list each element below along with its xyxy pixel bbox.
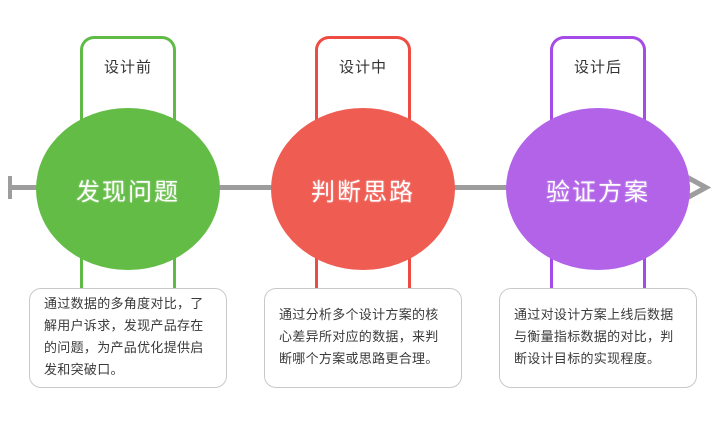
stage-3-bubble-label: 验证方案 (546, 172, 650, 207)
stage-1-caption-text: 通过数据的多角度对比，了解用户诉求，发现产品存在的问题，为产品优化提供启发和突破… (30, 294, 226, 382)
stage-2-caption-card: 通过分析多个设计方案的核心差异所对应的数据，来判断哪个方案或思路更合理。 (264, 288, 462, 388)
stage-2: 设计中 判断思路 通过分析多个设计方案的核心差异所对应的数据，来判断哪个方案或思… (242, 0, 482, 429)
stage-1-phase-label: 设计前 (80, 57, 176, 77)
stage-3: 设计后 验证方案 通过对设计方案上线后数据与衡量指标数据的对比，判断设计目标的实… (477, 0, 717, 429)
stage-3-caption-text: 通过对设计方案上线后数据与衡量指标数据的对比，判断设计目标的实现程度。 (500, 305, 696, 371)
stage-3-phase-label: 设计后 (550, 57, 646, 77)
stage-2-caption-text: 通过分析多个设计方案的核心差异所对应的数据，来判断哪个方案或思路更合理。 (265, 305, 461, 371)
process-flow-diagram: 设计前 发现问题 通过数据的多角度对比，了解用户诉求，发现产品存在的问题，为产品… (0, 0, 720, 429)
stage-3-caption-card: 通过对设计方案上线后数据与衡量指标数据的对比，判断设计目标的实现程度。 (499, 288, 697, 388)
stage-2-bubble: 判断思路 (271, 108, 455, 270)
stage-1-caption-card: 通过数据的多角度对比，了解用户诉求，发现产品存在的问题，为产品优化提供启发和突破… (29, 288, 227, 388)
stage-3-bubble: 验证方案 (506, 108, 690, 270)
stage-1-bubble: 发现问题 (36, 108, 220, 270)
stage-1-bubble-label: 发现问题 (76, 172, 180, 207)
stage-2-bubble-label: 判断思路 (311, 172, 415, 207)
stage-2-phase-label: 设计中 (315, 57, 411, 77)
stage-1: 设计前 发现问题 通过数据的多角度对比，了解用户诉求，发现产品存在的问题，为产品… (7, 0, 247, 429)
